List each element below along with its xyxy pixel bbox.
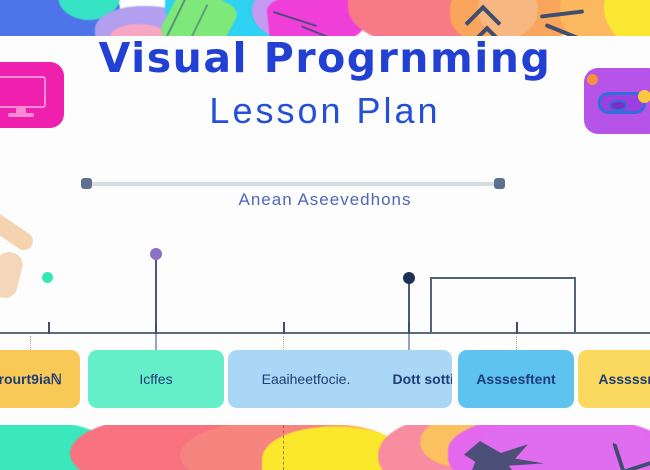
range-slider-track[interactable] xyxy=(86,182,500,186)
axis-tick xyxy=(408,322,410,334)
axis-tick xyxy=(283,322,285,334)
mint-dot-accent xyxy=(42,272,53,283)
card-label: Icffes xyxy=(139,371,172,387)
top-decorative-band xyxy=(0,0,650,36)
page-title: Visual Progrnming xyxy=(0,38,650,79)
bottom-decorative-band xyxy=(0,425,650,470)
marker-dot-purple[interactable] xyxy=(150,248,162,260)
slider-handle-right[interactable] xyxy=(494,178,505,189)
poster-title-block: Visual Progrnming Lesson Plan xyxy=(0,38,650,129)
timeline-card-activities[interactable]: Icffes xyxy=(88,350,224,408)
section-caption: Anean Aseevedhons xyxy=(0,190,650,210)
card-label-b: Dott sotties xyxy=(356,371,452,387)
timeline-card-assessment[interactable]: Asssesftent xyxy=(458,350,574,408)
axis-tick xyxy=(155,322,157,334)
blob-yellow xyxy=(604,0,650,36)
page-subtitle: Lesson Plan xyxy=(0,93,650,129)
marker-dot-navy[interactable] xyxy=(403,272,415,284)
axis-tick xyxy=(48,322,50,334)
slider-handle-left[interactable] xyxy=(81,178,92,189)
dashed-divider xyxy=(283,425,284,470)
axis-tick xyxy=(516,322,518,334)
decorative-smear xyxy=(0,250,25,301)
timeline-card-assessment-2[interactable]: Asssssme xyxy=(578,350,650,408)
lesson-plan-poster: Visual Progrnming Lesson Plan Anean Asee… xyxy=(0,0,650,470)
highlight-bracket xyxy=(430,277,576,333)
timeline-axis xyxy=(0,332,650,334)
decorative-smear xyxy=(0,208,36,253)
card-label: telrourt9iaℕ xyxy=(0,371,62,388)
timeline-card-introduction[interactable]: telrourt9iaℕ xyxy=(0,350,80,408)
card-label: Asssesftent xyxy=(476,371,555,387)
card-label-a: Eaaiheetfocie. xyxy=(236,371,376,387)
timeline-card-row: telrourt9iaℕ Icffes Eaaiheetfocie. Dott … xyxy=(0,350,650,408)
card-label: Asssssme xyxy=(598,371,650,387)
timeline-card-wide[interactable]: Eaaiheetfocie. Dott sotties xyxy=(228,350,452,408)
